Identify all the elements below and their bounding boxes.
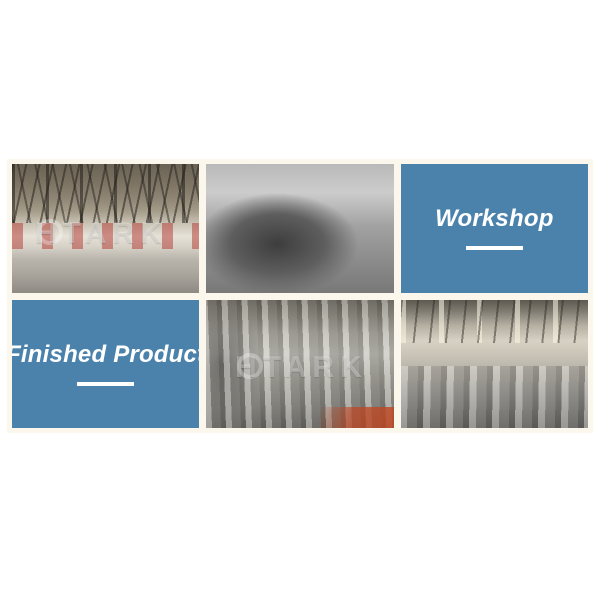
caption-workshop-divider — [466, 246, 523, 250]
gallery-cell-photo-warehouse-interior[interactable] — [12, 164, 199, 293]
gallery-page: Workshop Finished Product HTARK HTARK — [0, 0, 600, 600]
caption-finished-product-divider — [77, 382, 134, 386]
gallery-cell-caption-workshop[interactable]: Workshop — [401, 164, 588, 293]
caption-finished-product-label: Finished Product — [12, 342, 199, 368]
photo-warehouse-interior — [12, 164, 199, 293]
gallery-cell-photo-machine-closeup[interactable] — [206, 164, 393, 293]
gallery-cell-caption-finished-product[interactable]: Finished Product — [12, 300, 199, 429]
photo-mixer-row — [206, 300, 393, 429]
photo-assembly-hall — [401, 300, 588, 429]
photo-machine-closeup — [206, 164, 393, 293]
caption-workshop-label: Workshop — [435, 206, 554, 232]
image-gallery-grid: Workshop Finished Product — [7, 159, 593, 433]
gallery-cell-photo-assembly-hall[interactable] — [401, 300, 588, 429]
gallery-cell-photo-mixer-row[interactable] — [206, 300, 393, 429]
